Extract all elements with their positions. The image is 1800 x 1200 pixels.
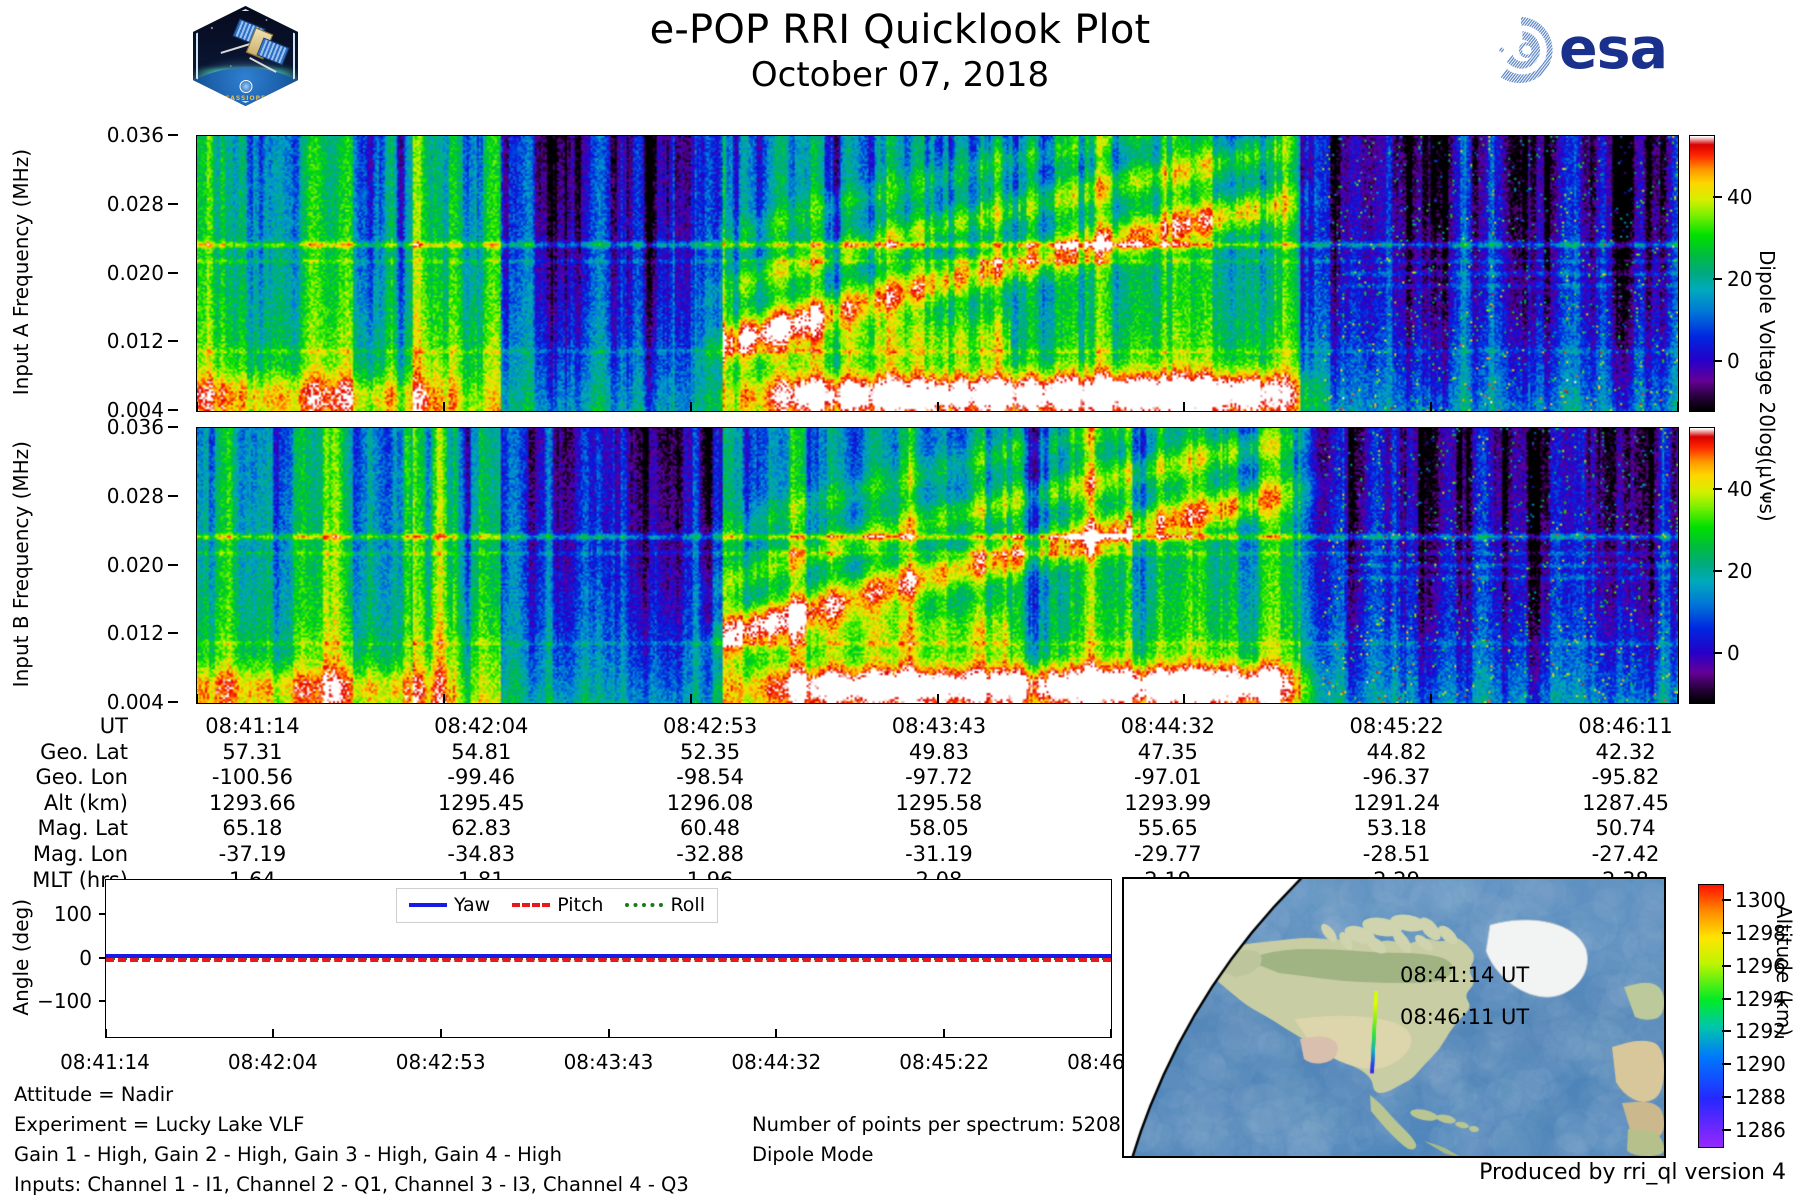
- attitude-xtick-mark: [272, 1029, 274, 1037]
- cell-r5-c4: -29.77: [1053, 842, 1282, 868]
- legend-label-yaw: Yaw: [454, 894, 490, 916]
- cell-r5-c6: -27.42: [1511, 842, 1740, 868]
- footer-points-per-spectrum: Number of points per spectrum: 5208: [752, 1113, 1121, 1136]
- ytick-mark: [168, 632, 178, 634]
- cell-r3-c0: 1293.66: [138, 791, 367, 817]
- cell-r1-c1: 54.81: [367, 740, 596, 766]
- footer-attitude: Attitude = Nadir: [14, 1083, 173, 1106]
- ytick-label: 0.020: [107, 553, 164, 577]
- cell-r2-c6: -95.82: [1511, 765, 1740, 791]
- xtick-mark: [937, 402, 939, 411]
- xtick-mark: [196, 402, 198, 411]
- cell-r2-c3: -97.72: [825, 765, 1054, 791]
- colorbar-tick-mark: [1713, 196, 1722, 198]
- cell-r3-c1: 1295.45: [367, 791, 596, 817]
- esa-wordmark: esa: [1559, 16, 1667, 82]
- cell-r4-c5: 53.18: [1282, 816, 1511, 842]
- cell-r1-c2: 52.35: [596, 740, 825, 766]
- attitude-xtick-mark: [440, 1029, 442, 1037]
- ytick-mark: [168, 495, 178, 497]
- altitude-tick-mark: [1722, 998, 1731, 1000]
- attitude-ylabel: Angle (deg): [8, 879, 34, 1036]
- cell-r4-c4: 55.65: [1053, 816, 1282, 842]
- footer-mode: Dipole Mode: [752, 1143, 874, 1166]
- cell-r5-c5: -28.51: [1282, 842, 1511, 868]
- cell-r1-c3: 49.83: [825, 740, 1054, 766]
- altitude-tick-mark: [1722, 1129, 1731, 1131]
- ytick-mark: [168, 340, 178, 342]
- table-row: Mag. Lat65.1862.8360.4858.0555.6553.1850…: [0, 816, 1740, 842]
- attitude-xtick-mark: [608, 1029, 610, 1037]
- xtick-mark: [1677, 402, 1679, 411]
- attitude-xtick-mark: [1110, 1029, 1112, 1037]
- cell-r1-c4: 47.35: [1053, 740, 1282, 766]
- cell-r2-c1: -99.46: [367, 765, 596, 791]
- attitude-xtick-label: 08:45:22: [899, 1050, 989, 1074]
- legend-label-pitch: Pitch: [557, 894, 603, 916]
- cassiope-mission-patch-icon: CASSIOPE: [193, 6, 298, 106]
- cell-r3-c3: 1295.58: [825, 791, 1054, 817]
- attitude-xtick-mark: [943, 1029, 945, 1037]
- attitude-xtick-mark: [105, 1029, 107, 1037]
- attitude-legend: YawPitchRoll: [396, 888, 718, 923]
- xtick-mark: [937, 694, 939, 703]
- ytick-mark: [168, 134, 178, 136]
- ytick-label: 0.028: [107, 192, 164, 216]
- attitude-xtick-label: 08:44:32: [731, 1050, 821, 1074]
- row-label-2: Geo. Lon: [0, 765, 138, 791]
- altitude-colorbar: [1698, 884, 1724, 1148]
- attitude-xtick-label: 08:42:53: [396, 1050, 486, 1074]
- ytick-label: 0.012: [107, 329, 164, 353]
- colorbar-tick-label: 20: [1727, 559, 1752, 583]
- altitude-tick-mark: [1722, 965, 1731, 967]
- altitude-tick-mark: [1722, 1030, 1731, 1032]
- cell-r4-c2: 60.48: [596, 816, 825, 842]
- colorbar-tick-label: 0: [1727, 349, 1740, 373]
- colorbar-tick-mark: [1713, 488, 1722, 490]
- table-row: UT08:41:1408:42:0408:42:5308:43:4308:44:…: [0, 714, 1740, 740]
- colorbar-tick-mark: [1713, 652, 1722, 654]
- cell-r1-c0: 57.31: [138, 740, 367, 766]
- cell-r0-c5: 08:45:22: [1282, 714, 1511, 740]
- input-a-spectrogram[interactable]: [196, 135, 1679, 412]
- map-end-time-label: 08:46:11 UT: [1400, 1005, 1529, 1029]
- xtick-mark: [690, 694, 692, 703]
- input-b-colorbar: [1689, 427, 1715, 704]
- ytick-mark: [168, 272, 178, 274]
- colorbar-tick-mark: [1713, 278, 1722, 280]
- cell-r1-c6: 42.32: [1511, 740, 1740, 766]
- xtick-mark: [1430, 694, 1432, 703]
- row-label-5: Mag. Lon: [0, 842, 138, 868]
- colorbar-tick-label: 40: [1727, 477, 1752, 501]
- colorbar-tick-label: 40: [1727, 185, 1752, 209]
- xtick-mark: [443, 402, 445, 411]
- colorbar-tick-label: 20: [1727, 267, 1752, 291]
- input-a-ytick-labels: 0.0360.0280.0200.0120.004: [30, 135, 178, 410]
- ytick-mark: [168, 203, 178, 205]
- legend-swatch-roll: [625, 903, 663, 907]
- ytick-label: 0.004: [107, 690, 164, 714]
- footer-experiment: Experiment = Lucky Lake VLF: [14, 1113, 304, 1136]
- cell-r0-c1: 08:42:04: [367, 714, 596, 740]
- colorbar-tick-mark: [1713, 360, 1722, 362]
- footer-inputs: Inputs: Channel 1 - I1, Channel 2 - Q1, …: [14, 1173, 689, 1196]
- table-row: Mag. Lon-37.19-34.83-32.88-31.19-29.77-2…: [0, 842, 1740, 868]
- cell-r2-c4: -97.01: [1053, 765, 1282, 791]
- cell-r3-c2: 1296.08: [596, 791, 825, 817]
- legend-item-roll: Roll: [625, 894, 705, 916]
- cell-r5-c1: -34.83: [367, 842, 596, 868]
- legend-item-yaw: Yaw: [409, 894, 490, 916]
- attitude-angle-plot[interactable]: YawPitchRoll: [105, 879, 1112, 1038]
- cell-r5-c2: -32.88: [596, 842, 825, 868]
- attitude-ytick-label: −100: [37, 989, 92, 1013]
- colorbar-tick-label: 0: [1727, 641, 1740, 665]
- produced-by-label: Produced by rri_ql version 4: [1479, 1160, 1786, 1185]
- cell-r2-c0: -100.56: [138, 765, 367, 791]
- cell-r0-c2: 08:42:53: [596, 714, 825, 740]
- cell-r4-c6: 50.74: [1511, 816, 1740, 842]
- ytick-label: 0.036: [107, 415, 164, 439]
- legend-label-roll: Roll: [670, 894, 705, 916]
- pitch-trace: [106, 958, 1111, 962]
- row-label-0: UT: [0, 714, 138, 740]
- esa-swirl-icon: [1485, 14, 1557, 86]
- cell-r4-c0: 65.18: [138, 816, 367, 842]
- ground-track-map[interactable]: [1122, 877, 1666, 1158]
- cell-r3-c5: 1291.24: [1282, 791, 1511, 817]
- xtick-mark: [1183, 402, 1185, 411]
- input-a-colorbar: [1689, 135, 1715, 412]
- altitude-tick-mark: [1722, 1096, 1731, 1098]
- row-label-1: Geo. Lat: [0, 740, 138, 766]
- ytick-mark: [168, 426, 178, 428]
- yaw-trace: [106, 954, 1111, 958]
- cell-r0-c0: 08:41:14: [138, 714, 367, 740]
- attitude-xtick-label: 08:42:04: [228, 1050, 318, 1074]
- xtick-mark: [690, 402, 692, 411]
- xtick-mark: [1430, 402, 1432, 411]
- legend-item-pitch: Pitch: [512, 894, 603, 916]
- colorbar-tick-mark: [1713, 570, 1722, 572]
- altitude-colorbar-label: Altitude (km): [1772, 905, 1796, 1135]
- ytick-label: 0.036: [107, 123, 164, 147]
- attitude-xtick-labels: 08:41:1408:42:0408:42:5308:43:4308:44:32…: [0, 1046, 1130, 1076]
- row-label-3: Alt (km): [0, 791, 138, 817]
- ytick-label: 0.028: [107, 484, 164, 508]
- ytick-mark: [168, 701, 178, 703]
- attitude-ytick-label: 0: [79, 946, 92, 970]
- cell-r2-c2: -98.54: [596, 765, 825, 791]
- ytick-mark: [168, 409, 178, 411]
- footer-gains: Gain 1 - High, Gain 2 - High, Gain 3 - H…: [14, 1143, 562, 1166]
- table-row: Geo. Lat57.3154.8152.3549.8347.3544.8242…: [0, 740, 1740, 766]
- xtick-mark: [443, 694, 445, 703]
- xtick-mark: [1183, 694, 1185, 703]
- input-b-spectrogram[interactable]: [196, 427, 1679, 704]
- altitude-tick-mark: [1722, 899, 1731, 901]
- attitude-xtick-label: 08:41:14: [60, 1050, 150, 1074]
- legend-swatch-yaw: [409, 903, 447, 907]
- cell-r1-c5: 44.82: [1282, 740, 1511, 766]
- ytick-label: 0.012: [107, 621, 164, 645]
- row-label-4: Mag. Lat: [0, 816, 138, 842]
- cell-r5-c0: -37.19: [138, 842, 367, 868]
- cell-r0-c4: 08:44:32: [1053, 714, 1282, 740]
- table-row: Geo. Lon-100.56-99.46-98.54-97.72-97.01-…: [0, 765, 1740, 791]
- map-start-time-label: 08:41:14 UT: [1400, 963, 1529, 987]
- attitude-ytick-label: 100: [54, 902, 92, 926]
- cell-r3-c6: 1287.45: [1511, 791, 1740, 817]
- cell-r0-c6: 08:46:11: [1511, 714, 1740, 740]
- xtick-mark: [1677, 694, 1679, 703]
- table-row: Alt (km)1293.661295.451296.081295.581293…: [0, 791, 1740, 817]
- cell-r2-c5: -96.37: [1282, 765, 1511, 791]
- altitude-tick-mark: [1722, 932, 1731, 934]
- colorbar-axis-label: Dipole Voltage 20log(µVᴪs): [1755, 250, 1779, 670]
- attitude-ytick-labels: 1000−100: [34, 879, 100, 1036]
- ytick-mark: [168, 564, 178, 566]
- attitude-xtick-mark: [775, 1029, 777, 1037]
- cell-r4-c1: 62.83: [367, 816, 596, 842]
- cell-r4-c3: 58.05: [825, 816, 1054, 842]
- ytick-label: 0.020: [107, 261, 164, 285]
- attitude-xtick-label: 08:43:43: [564, 1050, 654, 1074]
- xtick-mark: [196, 694, 198, 703]
- cell-r3-c4: 1293.99: [1053, 791, 1282, 817]
- legend-swatch-pitch: [512, 903, 550, 907]
- orbit-parameter-table: UT08:41:1408:42:0408:42:5308:43:4308:44:…: [0, 714, 1740, 893]
- cell-r5-c3: -31.19: [825, 842, 1054, 868]
- cell-r0-c3: 08:43:43: [825, 714, 1054, 740]
- input-b-ytick-labels: 0.0360.0280.0200.0120.004: [30, 427, 178, 702]
- esa-logo: esa: [1485, 12, 1710, 88]
- altitude-tick-mark: [1722, 1063, 1731, 1065]
